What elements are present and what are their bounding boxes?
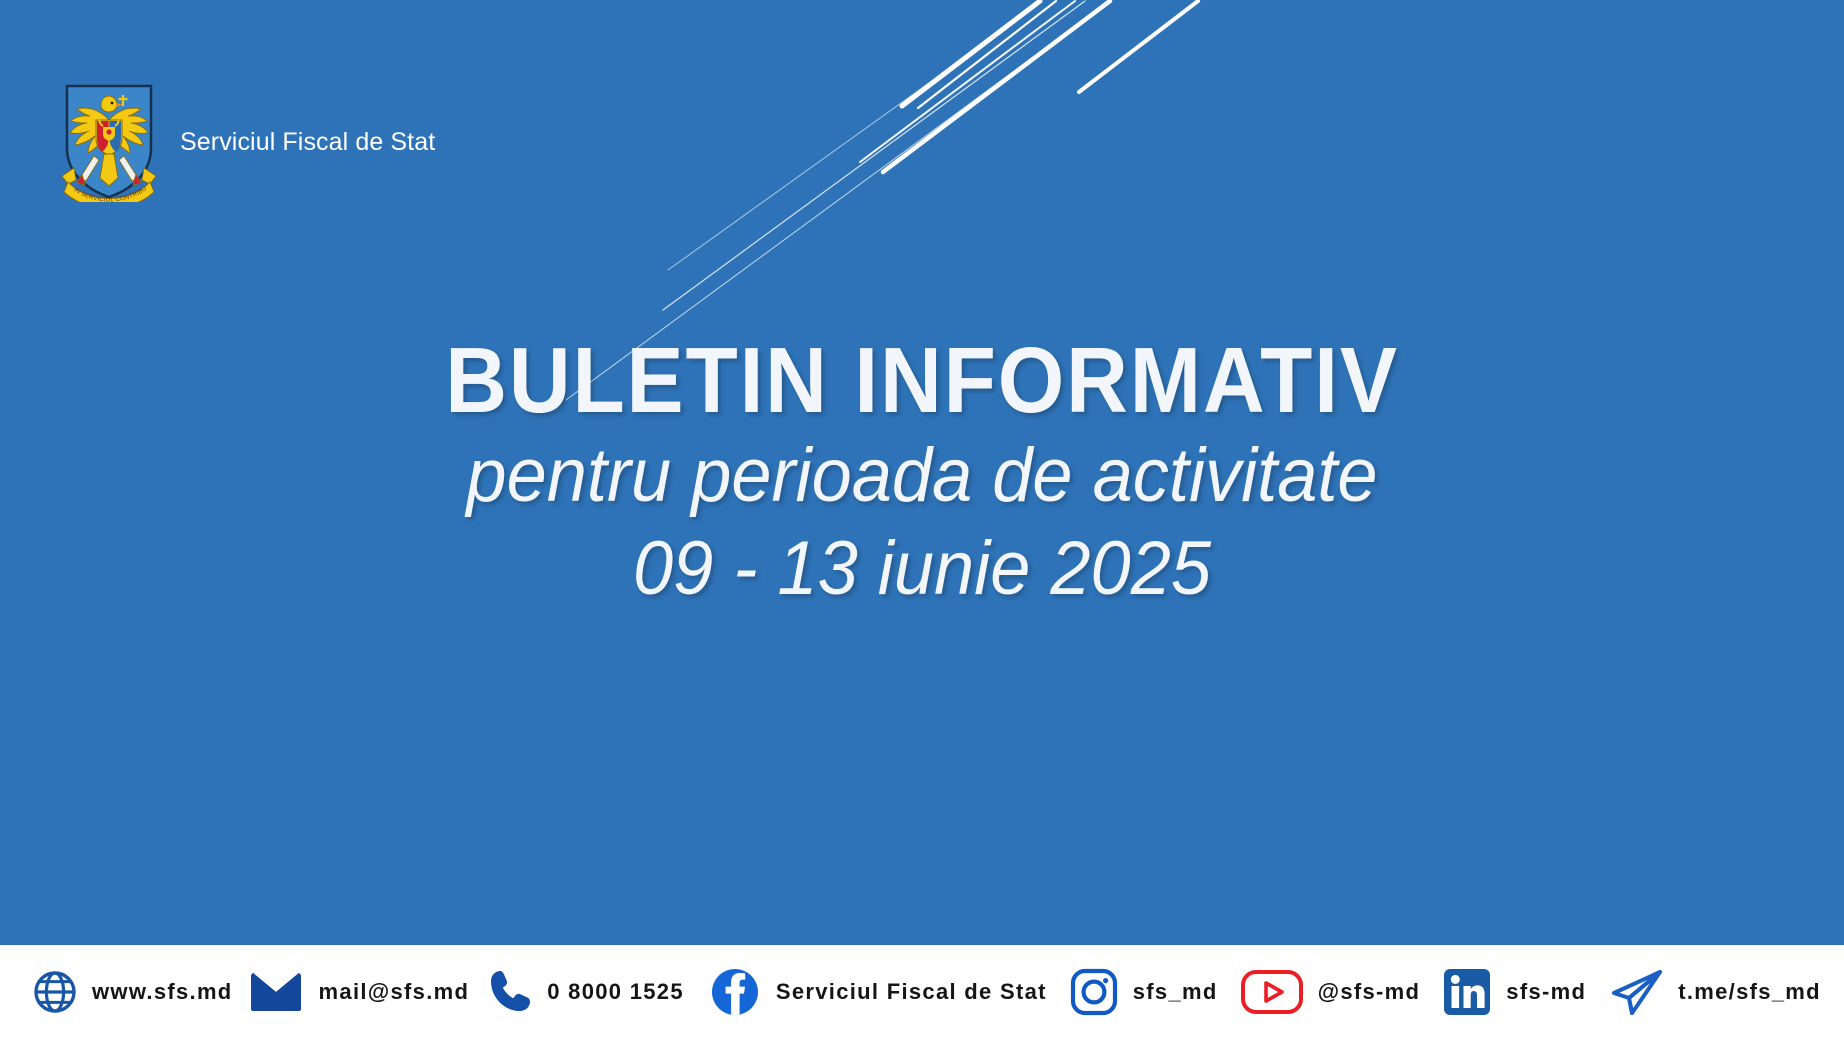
contact-phone[interactable]: 0 8000 1525: [487, 968, 684, 1016]
title-block: BULETIN INFORMATIV pentru perioada de ac…: [0, 330, 1844, 616]
contact-footer-bar: www.sfs.md mail@sfs.md 0 8000 1525: [0, 945, 1844, 1038]
moldova-coat-of-arms-icon: IN SERVICIUL CONTRIBUABILULUI: [60, 82, 158, 202]
streak-line-3: [663, 1, 1085, 310]
streak-line-1: [918, 1, 1056, 108]
contact-facebook[interactable]: Serviciul Fiscal de Stat: [710, 967, 1047, 1017]
instagram-icon: [1069, 967, 1119, 1017]
subtitle-period: pentru perioada de activitate: [46, 430, 1798, 523]
contact-email[interactable]: mail@sfs.md: [249, 969, 470, 1015]
streak-line-6: [668, 2, 1042, 270]
phone-icon: [487, 968, 533, 1016]
contact-instagram-label: sfs_md: [1133, 979, 1218, 1005]
brand-lockup: IN SERVICIUL CONTRIBUABILULUI Serviciul …: [60, 82, 435, 202]
contact-phone-label: 0 8000 1525: [547, 979, 684, 1005]
contact-youtube[interactable]: @sfs-md: [1240, 968, 1421, 1016]
facebook-icon: [710, 967, 760, 1017]
contact-linkedin[interactable]: sfs-md: [1442, 967, 1586, 1017]
contact-instagram[interactable]: sfs_md: [1069, 967, 1218, 1017]
contact-email-label: mail@sfs.md: [319, 979, 470, 1005]
contact-telegram[interactable]: t.me/sfs_md: [1608, 966, 1821, 1018]
contact-website-label: www.sfs.md: [92, 979, 233, 1005]
youtube-icon: [1240, 968, 1304, 1016]
contact-facebook-label: Serviciul Fiscal de Stat: [776, 979, 1047, 1005]
telegram-icon: [1608, 966, 1666, 1018]
slide-canvas: IN SERVICIUL CONTRIBUABILULUI Serviciul …: [0, 0, 1844, 1038]
streak-line-2: [860, 1, 1075, 162]
contact-linkedin-label: sfs-md: [1506, 979, 1586, 1005]
contact-youtube-label: @sfs-md: [1318, 979, 1421, 1005]
page-title: BULETIN INFORMATIV: [74, 330, 1770, 430]
streak-line-0: [902, 1, 1040, 106]
streak-line-7: [1079, 1, 1198, 92]
subtitle-dates: 09 - 13 iunie 2025: [46, 523, 1798, 616]
contact-telegram-label: t.me/sfs_md: [1678, 979, 1821, 1005]
envelope-icon: [249, 969, 303, 1015]
organization-name: Serviciul Fiscal de Stat: [180, 128, 435, 157]
linkedin-icon: [1442, 967, 1492, 1017]
contact-website[interactable]: www.sfs.md: [32, 969, 233, 1015]
globe-icon: [32, 969, 78, 1015]
streak-line-4: [883, 1, 1110, 172]
